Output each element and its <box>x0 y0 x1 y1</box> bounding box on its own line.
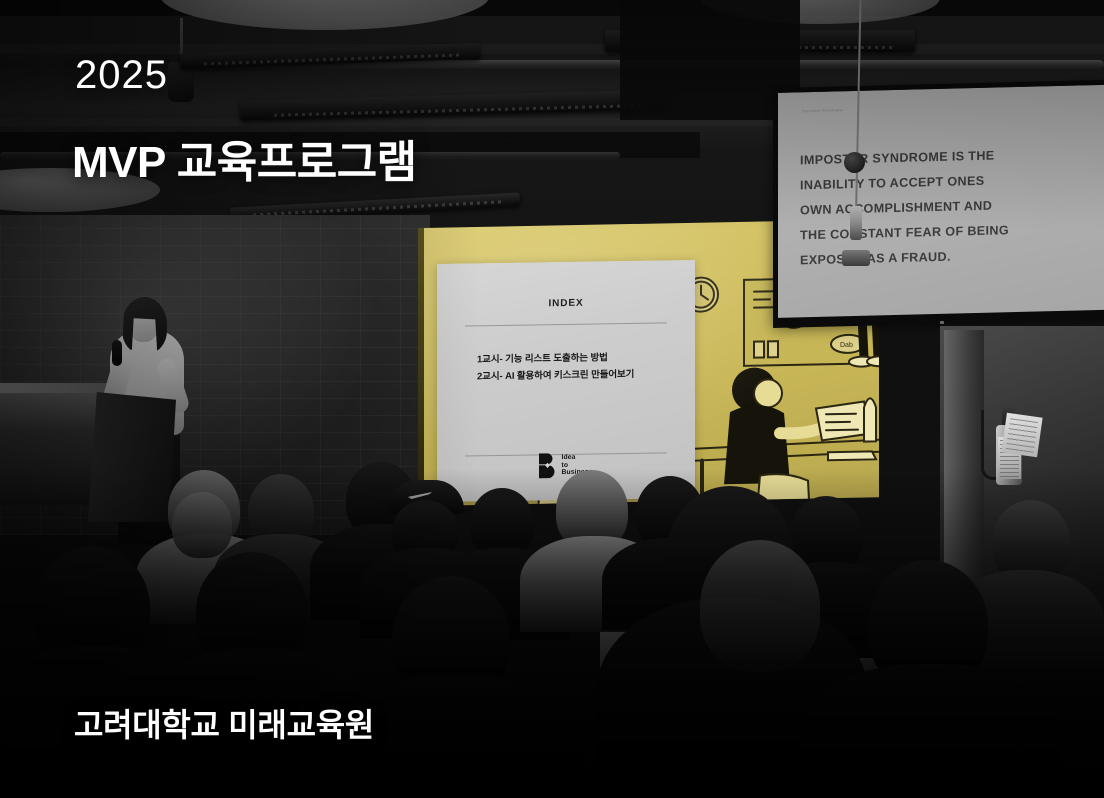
lectern <box>88 392 176 522</box>
presentation-slide: INDEX 1교시- 기능 리스트 도출하는 방법 2교시- AI 활용하여 키… <box>437 260 695 502</box>
slide-agenda: 1교시- 기능 리스트 도출하는 방법 2교시- AI 활용하여 키스크린 만들… <box>477 348 675 385</box>
screen-power-led <box>940 321 944 324</box>
microphone <box>112 340 122 366</box>
poster-year: 2025 <box>75 53 168 98</box>
quote-small-label: Imposter Syndrome <box>802 107 844 113</box>
svg-text:Dab: Dab <box>840 342 853 349</box>
slide-agenda-item: 2교시- AI 활용하여 키스크린 만들어보기 <box>477 365 675 385</box>
track-light <box>240 89 670 120</box>
slide-title: INDEX <box>437 296 695 311</box>
event-photograph: Dab <box>0 0 1104 798</box>
inspection-tag <box>1001 413 1042 458</box>
quote-display-screen: Imposter Syndrome IMPOSTER SYNDROME IS T… <box>773 80 1104 326</box>
poster-canvas: Dab <box>0 0 1104 798</box>
pendant-lamp <box>160 0 490 30</box>
b-mark-icon <box>539 453 556 478</box>
poster-headline: MVP 교육프로그램 <box>72 126 417 190</box>
slide-divider-top <box>465 322 667 326</box>
poster-organization: 고려대학교 미래교육원 <box>74 700 374 746</box>
idea-to-business-logo: Idea to Business <box>437 451 695 480</box>
